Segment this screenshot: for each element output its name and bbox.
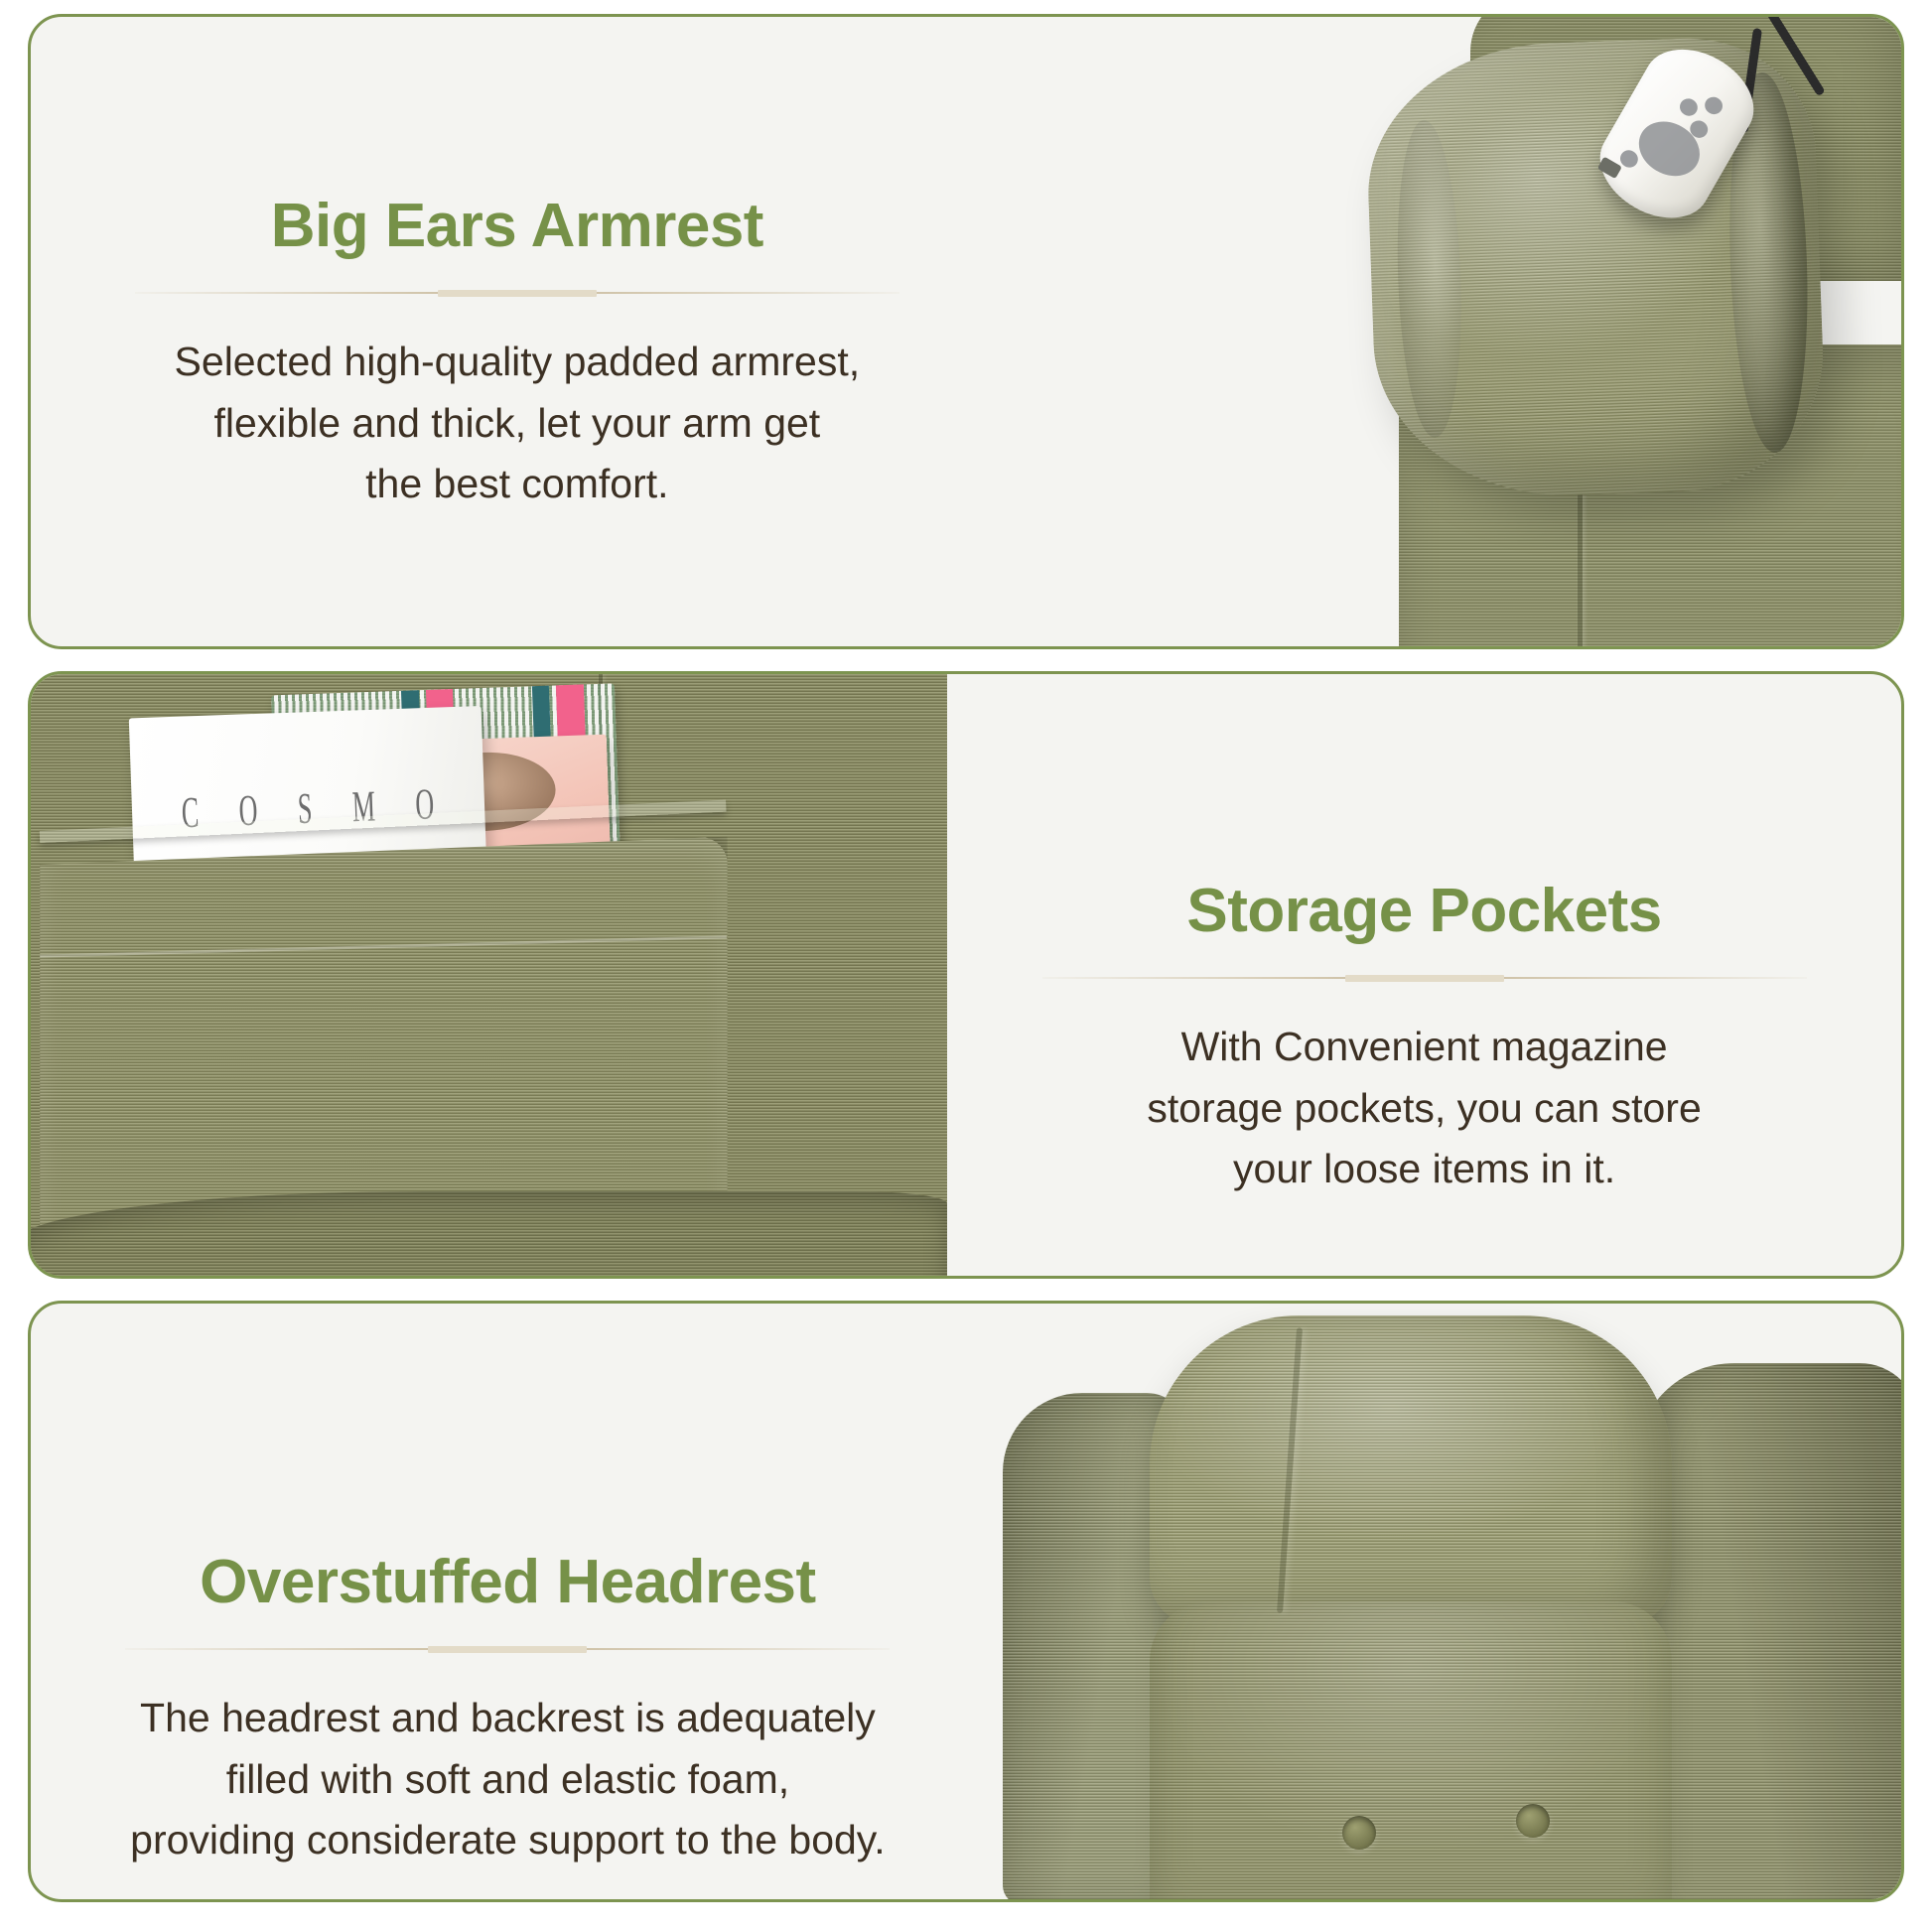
panel-2-heading: Storage Pockets [1186,879,1661,943]
panel-1-body-line-1: Selected high-quality padded armrest, [175,332,861,393]
upholstery-button [1342,1816,1376,1850]
panel-2-body-line-1: With Convenient magazine [1147,1017,1701,1078]
panel-1-heading: Big Ears Armrest [271,194,763,258]
storage-pocket-photo: C O S M O YOU YOU YOU [31,674,947,1276]
right-wing-armrest [1635,1363,1901,1899]
headrest-photo [985,1304,1901,1899]
headrest-cushion [1150,1315,1672,1625]
panel-1-body: Selected high-quality padded armrest, fl… [175,332,861,515]
panel-1-divider [135,288,899,298]
panel-2-body-line-2: storage pockets, you can store [1147,1078,1701,1140]
panel-3-divider [125,1644,890,1654]
panel-3-body-line-1: The headrest and backrest is adequately [130,1688,886,1749]
chair-base [31,1191,947,1276]
panel-2-divider [1042,973,1807,983]
armrest-photo [1004,17,1901,646]
panel-3-body-line-3: providing considerate support to the bod… [130,1810,886,1871]
panel-3-heading: Overstuffed Headrest [200,1550,816,1614]
infographic-sheet: Big Ears Armrest Selected high-quality p… [0,0,1932,1932]
feature-panel-storage-pockets: C O S M O YOU YOU YOU Storage Pockets Wi… [28,671,1904,1279]
panel-3-image [985,1304,1901,1899]
panel-2-image: C O S M O YOU YOU YOU [31,674,947,1276]
panel-1-image [1004,17,1901,646]
panel-2-body: With Convenient magazine storage pockets… [1147,1017,1701,1200]
divider-center-nub [1345,975,1504,982]
panel-3-text-block: Overstuffed Headrest The headrest and ba… [31,1304,985,1899]
panel-3-body: The headrest and backrest is adequately … [130,1688,886,1871]
panel-2-text-block: Storage Pockets With Convenient magazine… [947,674,1901,1276]
panel-1-text-block: Big Ears Armrest Selected high-quality p… [31,17,1004,646]
panel-2-body-line-3: your loose items in it. [1147,1139,1701,1200]
panel-1-body-line-2: flexible and thick, let your arm get [175,393,861,455]
panel-1-body-line-3: the best comfort. [175,454,861,515]
panel-3-body-line-2: filled with soft and elastic foam, [130,1749,886,1811]
feature-panel-overstuffed-headrest: Overstuffed Headrest The headrest and ba… [28,1301,1904,1902]
pillow-fold [1393,119,1466,439]
feature-panel-big-ears-armrest: Big Ears Armrest Selected high-quality p… [28,14,1904,649]
divider-center-nub [438,290,597,297]
backrest-cushion [1150,1601,1672,1899]
divider-center-nub [428,1646,587,1653]
